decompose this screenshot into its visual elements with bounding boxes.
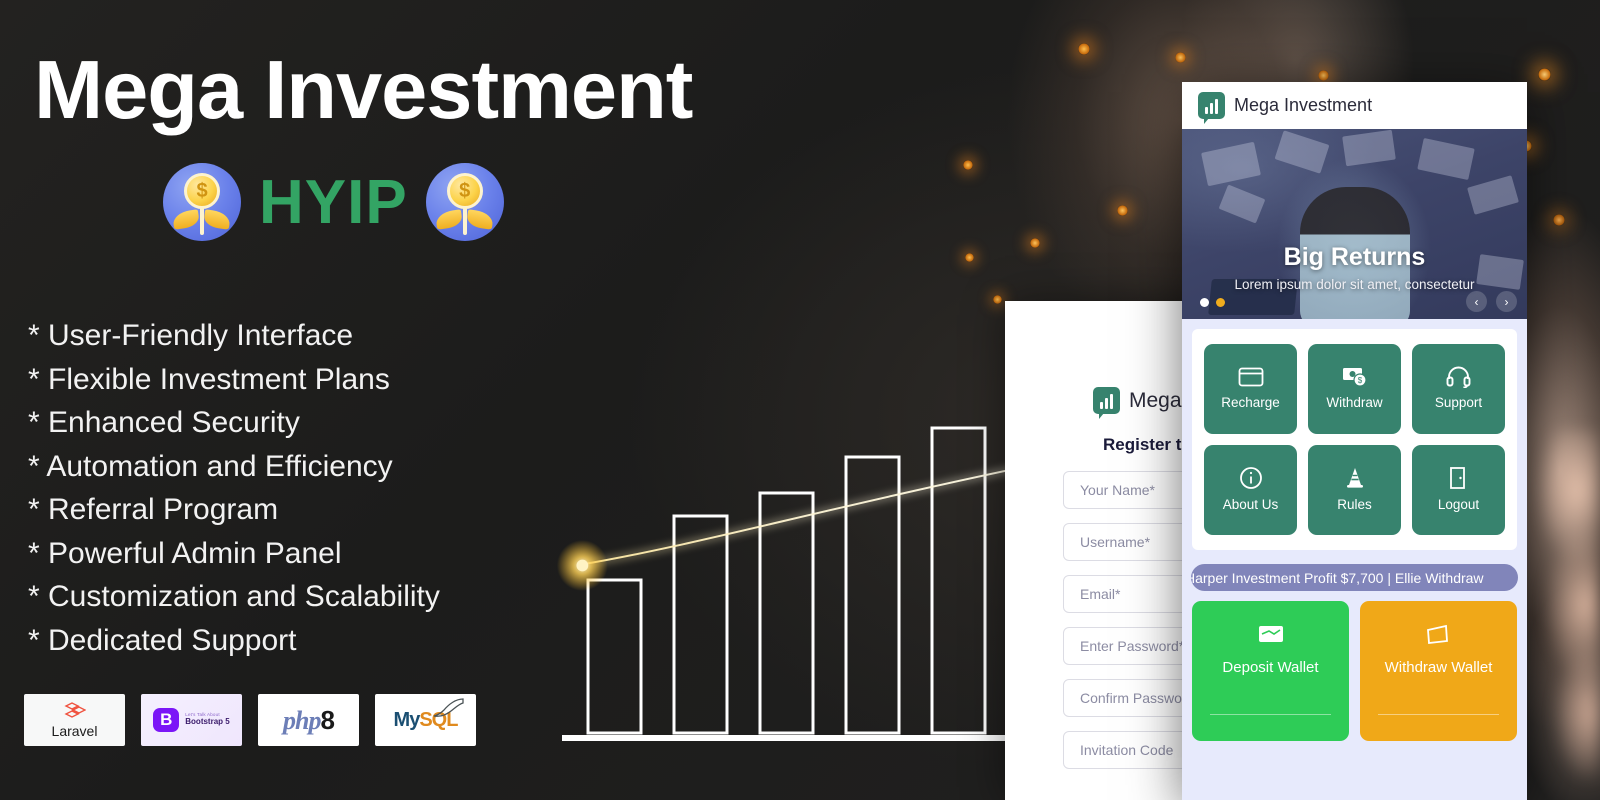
promo-banner: Mega Investment HYIP * User-Friendly Int… <box>0 0 1600 800</box>
laravel-label: Laravel <box>52 723 98 739</box>
feature-item: * Referral Program <box>28 488 440 532</box>
profit-ticker: Harper Investment Profit $7,700 | Ellie … <box>1191 564 1518 591</box>
money-dollar-icon: $ <box>1342 366 1368 388</box>
bootstrap-icon: B <box>153 708 179 732</box>
action-about-us[interactable]: About Us <box>1204 445 1297 535</box>
promo-subtitle-row: HYIP <box>163 163 504 241</box>
svg-text:$: $ <box>1357 376 1362 385</box>
action-logout-label: Logout <box>1438 497 1479 514</box>
carousel-dots[interactable] <box>1200 298 1225 307</box>
bar-chart-artwork <box>560 390 1030 750</box>
chart-bar <box>588 580 641 733</box>
feature-item: * Automation and Efficiency <box>28 445 440 489</box>
feature-item: * User-Friendly Interface <box>28 314 440 358</box>
action-recharge[interactable]: Recharge <box>1204 344 1297 434</box>
laravel-icon <box>64 702 86 722</box>
invitation-code-placeholder: Invitation Code <box>1080 742 1173 758</box>
carousel-next-icon[interactable]: › <box>1496 291 1517 312</box>
dolphin-icon <box>432 697 466 724</box>
info-icon <box>1239 466 1263 490</box>
quick-actions-grid: Recharge $ Withdraw <box>1192 329 1517 550</box>
action-support[interactable]: Support <box>1412 344 1505 434</box>
feature-item: * Customization and Scalability <box>28 575 440 619</box>
profit-ticker-text: Harper Investment Profit $7,700 | Ellie … <box>1191 570 1484 586</box>
headset-icon <box>1446 366 1471 388</box>
action-logout[interactable]: Logout <box>1412 445 1505 535</box>
tech-badge-row: Laravel B Let's Talk About Bootstrap 5 p… <box>24 694 476 746</box>
mysql-badge: MySQL <box>375 694 476 746</box>
php-badge: php8 <box>258 694 359 746</box>
chart-bubble-logo-icon <box>1198 92 1225 119</box>
chart-bar <box>932 428 985 733</box>
mysql-label-my: My <box>394 709 420 731</box>
withdraw-wallet-card[interactable]: Withdraw Wallet <box>1360 601 1517 741</box>
hero-carousel[interactable]: Big Returns Lorem ipsum dolor sit amet, … <box>1182 129 1527 319</box>
php-label: php <box>283 706 320 735</box>
carousel-dot-2[interactable] <box>1216 298 1225 307</box>
php-version: 8 <box>321 705 334 735</box>
wallet-out-icon <box>1426 623 1452 650</box>
money-plant-icon <box>426 163 504 241</box>
password-placeholder: Enter Password* <box>1080 638 1184 654</box>
chart-bar <box>846 457 899 733</box>
app-header: Mega Investment <box>1182 82 1527 129</box>
feature-item: * Dedicated Support <box>28 619 440 663</box>
chart-bubble-logo-icon <box>1093 387 1120 414</box>
action-about-us-label: About Us <box>1223 497 1279 514</box>
promo-headline: Mega Investment <box>34 48 692 131</box>
carousel-dot-1[interactable] <box>1200 298 1209 307</box>
hero-subtitle: Lorem ipsum dolor sit amet, consectetur <box>1182 277 1527 292</box>
promo-subtitle: HYIP <box>259 167 408 238</box>
wallet-cards: Deposit Wallet Withdraw Wallet <box>1182 591 1527 741</box>
feature-item: * Powerful Admin Panel <box>28 532 440 576</box>
laravel-badge: Laravel <box>24 694 125 746</box>
mobile-app-mockup: Mega Investment Big Returns Lorem ipsum … <box>1182 82 1527 800</box>
action-rules[interactable]: Rules <box>1308 445 1401 535</box>
action-support-label: Support <box>1435 395 1482 412</box>
action-withdraw[interactable]: $ Withdraw <box>1308 344 1401 434</box>
bootstrap-label: Bootstrap 5 <box>185 718 229 727</box>
carousel-prev-icon[interactable]: ‹ <box>1466 291 1487 312</box>
php-logo: php8 <box>283 705 334 736</box>
deposit-wallet-label: Deposit Wallet <box>1222 658 1318 678</box>
deposit-wallet-card[interactable]: Deposit Wallet <box>1192 601 1349 741</box>
email-placeholder: Email* <box>1080 586 1120 602</box>
action-recharge-label: Recharge <box>1221 395 1280 412</box>
action-rules-label: Rules <box>1337 497 1372 514</box>
feature-item: * Enhanced Security <box>28 401 440 445</box>
hero-title: Big Returns <box>1182 243 1527 272</box>
username-placeholder: Username* <box>1080 534 1150 550</box>
door-icon <box>1448 466 1470 490</box>
cone-icon <box>1343 466 1367 490</box>
card-icon <box>1238 366 1264 388</box>
feature-item: * Flexible Investment Plans <box>28 358 440 402</box>
wallet-in-icon <box>1258 623 1284 650</box>
chart-bar <box>674 516 727 733</box>
quick-actions-section: Recharge $ Withdraw <box>1182 319 1527 560</box>
feature-list: * User-Friendly Interface * Flexible Inv… <box>28 314 440 662</box>
your-name-placeholder: Your Name* <box>1080 482 1155 498</box>
action-withdraw-label: Withdraw <box>1326 395 1382 412</box>
carousel-arrows[interactable]: ‹ › <box>1466 291 1517 312</box>
bootstrap-badge: B Let's Talk About Bootstrap 5 <box>141 694 242 746</box>
money-plant-icon <box>163 163 241 241</box>
chart-bar <box>760 493 813 733</box>
wallet-divider <box>1210 714 1331 715</box>
app-brand-label: Mega Investment <box>1234 95 1372 116</box>
wallet-divider <box>1378 714 1499 715</box>
withdraw-wallet-label: Withdraw Wallet <box>1385 658 1493 678</box>
chart-baseline <box>562 735 1028 741</box>
